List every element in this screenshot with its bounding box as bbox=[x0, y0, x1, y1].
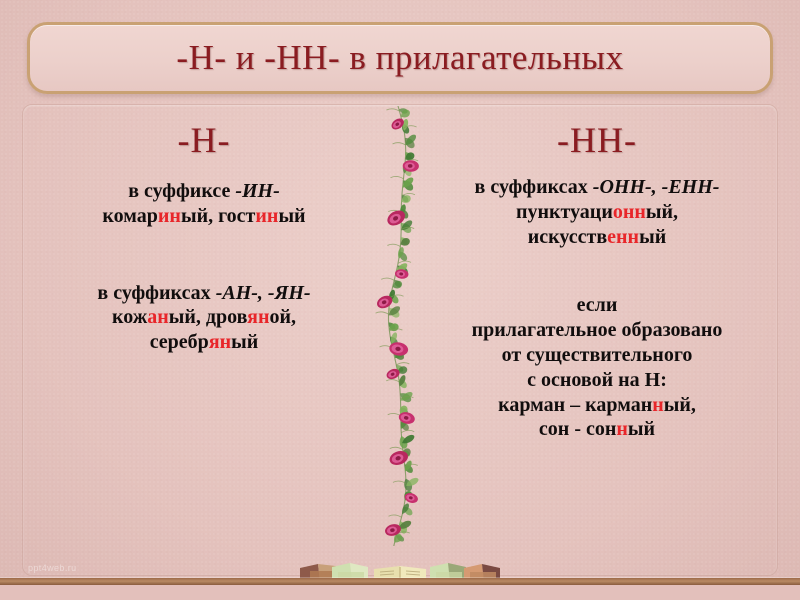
example-text: комар bbox=[102, 205, 158, 227]
highlighted-suffix: ин bbox=[255, 205, 278, 227]
rule-block-noun-stem-n: если прилагательное образовано от сущест… bbox=[421, 293, 773, 442]
page-title: -Н- и -НН- в прилагательных bbox=[176, 38, 623, 78]
bottom-divider-line bbox=[0, 578, 800, 585]
rule-text-an-yan: в суффиксах -АН-, -ЯН- bbox=[29, 281, 379, 306]
example-text: ый, дров bbox=[169, 306, 247, 328]
example-text: серебр bbox=[150, 331, 209, 353]
rule-block-an-yan: в суффиксах -АН-, -ЯН- кожаный, дровяной… bbox=[29, 281, 379, 355]
bottom-strip bbox=[0, 585, 800, 600]
example-text: ый bbox=[628, 418, 655, 440]
slide-canvas: -Н- и -НН- в прилагательных -Н- в суффик… bbox=[0, 0, 800, 600]
rule-block-onn-enn: в суффиксах -ОНН-, -ЕНН- пунктуационный,… bbox=[421, 175, 773, 249]
example-line: карман – карманный, bbox=[421, 393, 773, 418]
highlighted-suffix: ян bbox=[247, 306, 269, 328]
example-text: ой, bbox=[270, 306, 297, 328]
rule-prefix: в суффиксах bbox=[475, 176, 593, 198]
example-text: ый, bbox=[664, 394, 696, 416]
example-line: кожаный, дровяной, bbox=[29, 305, 379, 330]
rule-line: если bbox=[421, 293, 773, 318]
example-line: комариный, гостиный bbox=[29, 204, 379, 229]
example-text: ый bbox=[639, 226, 666, 248]
watermark-text: ppt4web.ru bbox=[28, 563, 77, 573]
example-text: ый bbox=[231, 331, 258, 353]
example-text: ый, гост bbox=[181, 205, 255, 227]
column-n: -Н- в суффиксе -ИН- комариный, гостиный … bbox=[29, 105, 379, 355]
suffix-markers: -АН-, -ЯН- bbox=[216, 282, 311, 304]
example-text: кож bbox=[112, 306, 147, 328]
highlighted-suffix: ян bbox=[209, 331, 231, 353]
example-text: ый, bbox=[646, 201, 678, 223]
rule-block-in: в суффиксе -ИН- комариный, гостиный bbox=[29, 179, 379, 229]
example-line: сон - сонный bbox=[421, 417, 773, 442]
highlighted-suffix: енн bbox=[607, 226, 639, 248]
slide-title-box: -Н- и -НН- в прилагательных bbox=[27, 22, 773, 94]
rule-text-onn-enn: в суффиксах -ОНН-, -ЕНН- bbox=[421, 175, 773, 200]
column-nn-heading: -НН- bbox=[421, 119, 773, 161]
highlighted-suffix: н bbox=[616, 418, 628, 440]
highlighted-suffix: ин bbox=[158, 205, 181, 227]
rule-line: с основой на Н: bbox=[421, 368, 773, 393]
rule-line: прилагательное образовано bbox=[421, 318, 773, 343]
column-n-heading: -Н- bbox=[29, 119, 379, 161]
example-text: карман – карман bbox=[498, 394, 652, 416]
rule-text-in: в суффиксе -ИН- bbox=[29, 179, 379, 204]
example-text: ый bbox=[278, 205, 305, 227]
rule-prefix: в суффиксе bbox=[128, 180, 235, 202]
example-line: искусственный bbox=[421, 225, 773, 250]
highlighted-suffix: н bbox=[652, 394, 664, 416]
column-nn: -НН- в суффиксах -ОНН-, -ЕНН- пунктуацио… bbox=[421, 105, 773, 442]
suffix-markers: -ИН- bbox=[235, 180, 279, 202]
example-line: серебряный bbox=[29, 330, 379, 355]
rule-prefix: в суффиксах bbox=[97, 282, 215, 304]
highlighted-suffix: ан bbox=[147, 306, 169, 328]
highlighted-suffix: онн bbox=[613, 201, 646, 223]
example-text: сон - сон bbox=[539, 418, 616, 440]
example-line: пунктуационный, bbox=[421, 200, 773, 225]
example-text: пунктуаци bbox=[516, 201, 613, 223]
example-text: искусств bbox=[528, 226, 607, 248]
rule-line: от существительного bbox=[421, 343, 773, 368]
content-panel: -Н- в суффиксе -ИН- комариный, гостиный … bbox=[22, 104, 778, 576]
suffix-markers: -ОНН-, -ЕНН- bbox=[593, 176, 720, 198]
